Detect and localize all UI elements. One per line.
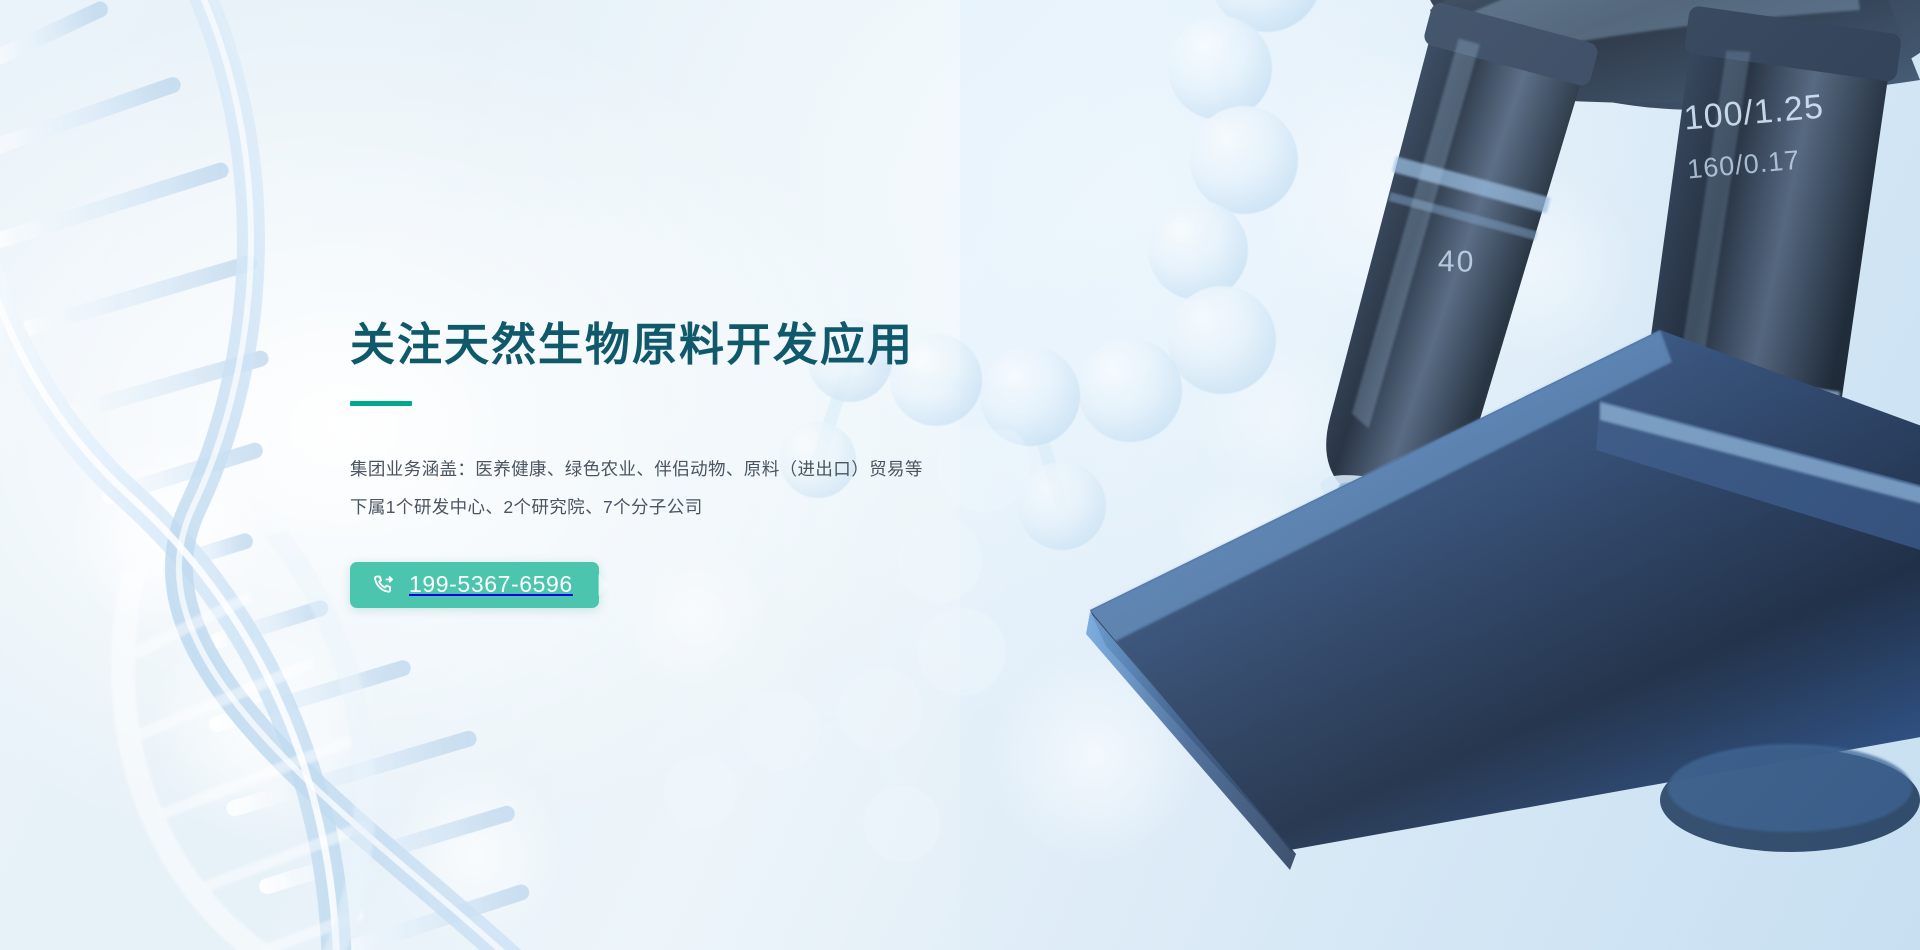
phone-forward-icon	[372, 573, 396, 597]
description-line-2: 下属1个研发中心、2个研究院、7个分子公司	[350, 488, 1250, 526]
description-line-1: 集团业务涵盖：医养健康、绿色农业、伴侣动物、原料（进出口）贸易等	[350, 450, 1250, 488]
hero-content: 关注天然生物原料开发应用 集团业务涵盖：医养健康、绿色农业、伴侣动物、原料（进出…	[350, 318, 1250, 608]
hero-banner: 40 100/1.25 160/0.17 100	[0, 0, 1920, 950]
accent-rule	[350, 401, 412, 406]
hero-description: 集团业务涵盖：医养健康、绿色农业、伴侣动物、原料（进出口）贸易等 下属1个研发中…	[350, 450, 1250, 526]
phone-cta-button[interactable]: 199-5367-6596	[350, 562, 599, 608]
phone-number: 199-5367-6596	[409, 573, 573, 596]
page-title: 关注天然生物原料开发应用	[350, 318, 1250, 373]
